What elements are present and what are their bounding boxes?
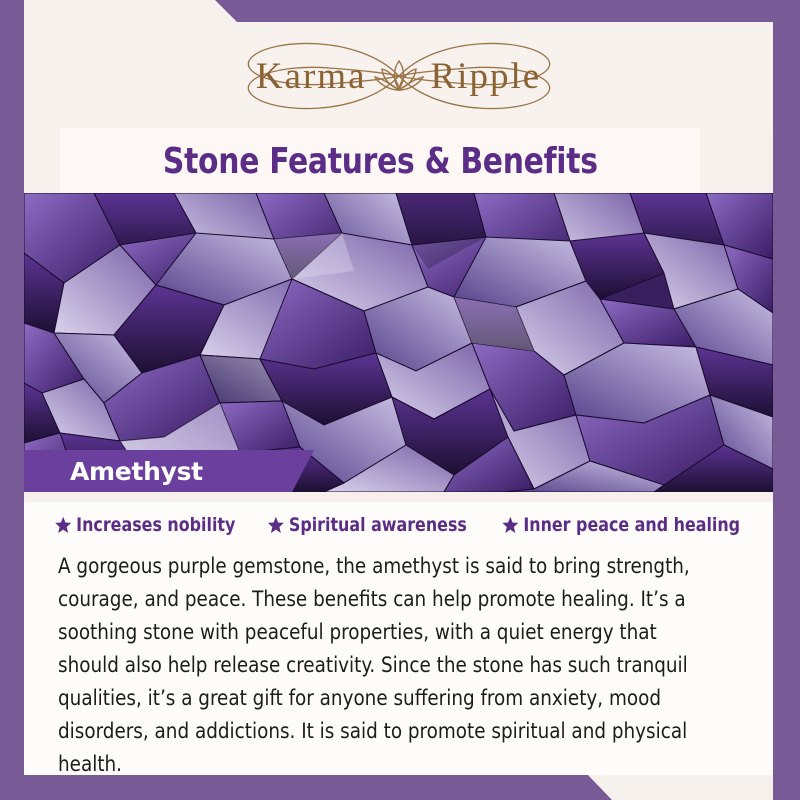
feature-list: Increases nobility Spiritual awareness I…	[24, 514, 773, 536]
feature-label-2: Spiritual awareness	[289, 514, 467, 536]
frame-right-border	[773, 0, 800, 800]
content-panel: Increases nobility Spiritual awareness I…	[24, 492, 773, 775]
product-info-card: Karma Ripple Stone Features & Benefits	[0, 0, 800, 800]
frame-left-border	[0, 0, 24, 800]
stone-name-label: Amethyst	[70, 457, 203, 486]
frame-top-border	[0, 0, 800, 22]
stone-name-banner: Amethyst	[24, 450, 314, 492]
brand-name-left: Karma	[256, 55, 367, 98]
page-title: Stone Features & Benefits	[163, 141, 598, 182]
lotus-icon	[373, 57, 425, 95]
star-icon	[268, 516, 285, 534]
amethyst-crystal-photo	[24, 193, 773, 492]
feature-label-3: Inner peace and healing	[523, 514, 740, 536]
brand-logo: Karma Ripple	[24, 22, 773, 130]
star-icon	[502, 516, 519, 534]
content-top-strip	[24, 492, 773, 502]
stone-description: A gorgeous purple gemstone, the amethyst…	[58, 550, 705, 781]
feature-item-2: Spiritual awareness	[268, 514, 467, 536]
star-icon	[55, 516, 72, 534]
section-heading-banner: Stone Features & Benefits	[60, 128, 700, 194]
brand-name-right: Ripple	[431, 55, 542, 98]
feature-item-3: Inner peace and healing	[502, 514, 740, 536]
feature-label-1: Increases nobility	[76, 514, 235, 536]
feature-item-1: Increases nobility	[55, 514, 236, 536]
